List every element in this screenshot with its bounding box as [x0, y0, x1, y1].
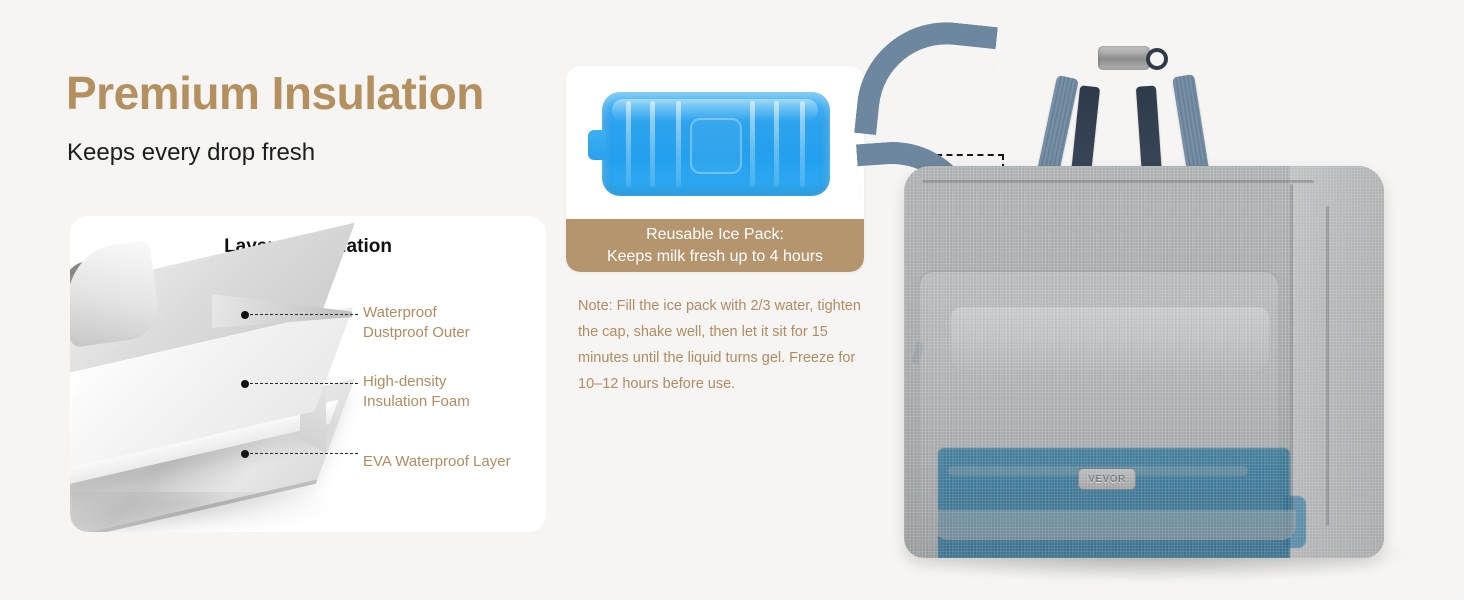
page-title: Premium Insulation [66, 68, 484, 119]
ice-pack-rib [774, 101, 779, 187]
bag-body: VEVOR [904, 166, 1384, 558]
callout-label-line2: Dustproof Outer [363, 323, 470, 343]
ice-pack-note-text: Note: Fill the ice pack with 2/3 water, … [578, 293, 872, 397]
bag-mesh-window [950, 306, 1270, 370]
callout-label-line1: High-density [363, 372, 446, 392]
callout-dash-line [250, 453, 358, 454]
ice-pack-photo [566, 66, 864, 219]
bag-zipper-side [1290, 184, 1293, 536]
ice-pack-rib [676, 101, 681, 187]
ice-pack-caption-bar: Reusable Ice Pack: Keeps milk fresh up t… [566, 219, 864, 272]
callout-label-line1: EVA Waterproof Layer [363, 452, 511, 472]
ice-pack-center-panel [690, 118, 742, 174]
callout-dash-line [250, 314, 358, 315]
bag-handle-clasp-icon [1098, 46, 1150, 70]
ice-pack-rib [650, 101, 655, 187]
callout-dot-icon [241, 450, 249, 458]
foam-stack-illustration [70, 246, 392, 532]
bag-bottom-band [934, 510, 1296, 540]
callout-dot-icon [241, 311, 249, 319]
product-bag-photo: VEVOR [860, 20, 1464, 600]
ice-pack-illustration [602, 92, 830, 196]
page-subtitle: Keeps every drop fresh [67, 138, 315, 168]
callout-label-line1: Waterproof [363, 303, 437, 323]
bag-handle-left-arc [854, 13, 998, 146]
ice-pack-caption-line2: Keeps milk fresh up to 4 hours [607, 246, 823, 268]
bag-handle-ring-icon [1146, 48, 1168, 70]
callout-label-line2: Insulation Foam [363, 392, 470, 412]
bag-inner-ice-pack [938, 448, 1290, 558]
ice-pack-rib [626, 101, 631, 187]
infographic-root: Premium Insulation Keeps every drop fres… [0, 0, 1464, 600]
callout-dash-line [250, 383, 358, 384]
ice-pack-card: Reusable Ice Pack: Keeps milk fresh up t… [566, 66, 864, 272]
stack-floor-shadow [72, 492, 340, 532]
ice-pack-caption-line1: Reusable Ice Pack: [646, 224, 784, 246]
ice-pack-cap-icon [588, 130, 606, 160]
bag-front-pocket: VEVOR [918, 270, 1280, 542]
brand-badge: VEVOR [1078, 468, 1136, 490]
layered-insulation-card: Layered Insulation Waterproof Dustproof … [70, 216, 546, 532]
bag-zipper-top [922, 180, 1314, 183]
callout-dot-icon [241, 380, 249, 388]
bag-zipper-rear [1326, 206, 1329, 526]
ice-pack-rib [750, 101, 755, 187]
ice-pack-rib [800, 101, 805, 187]
